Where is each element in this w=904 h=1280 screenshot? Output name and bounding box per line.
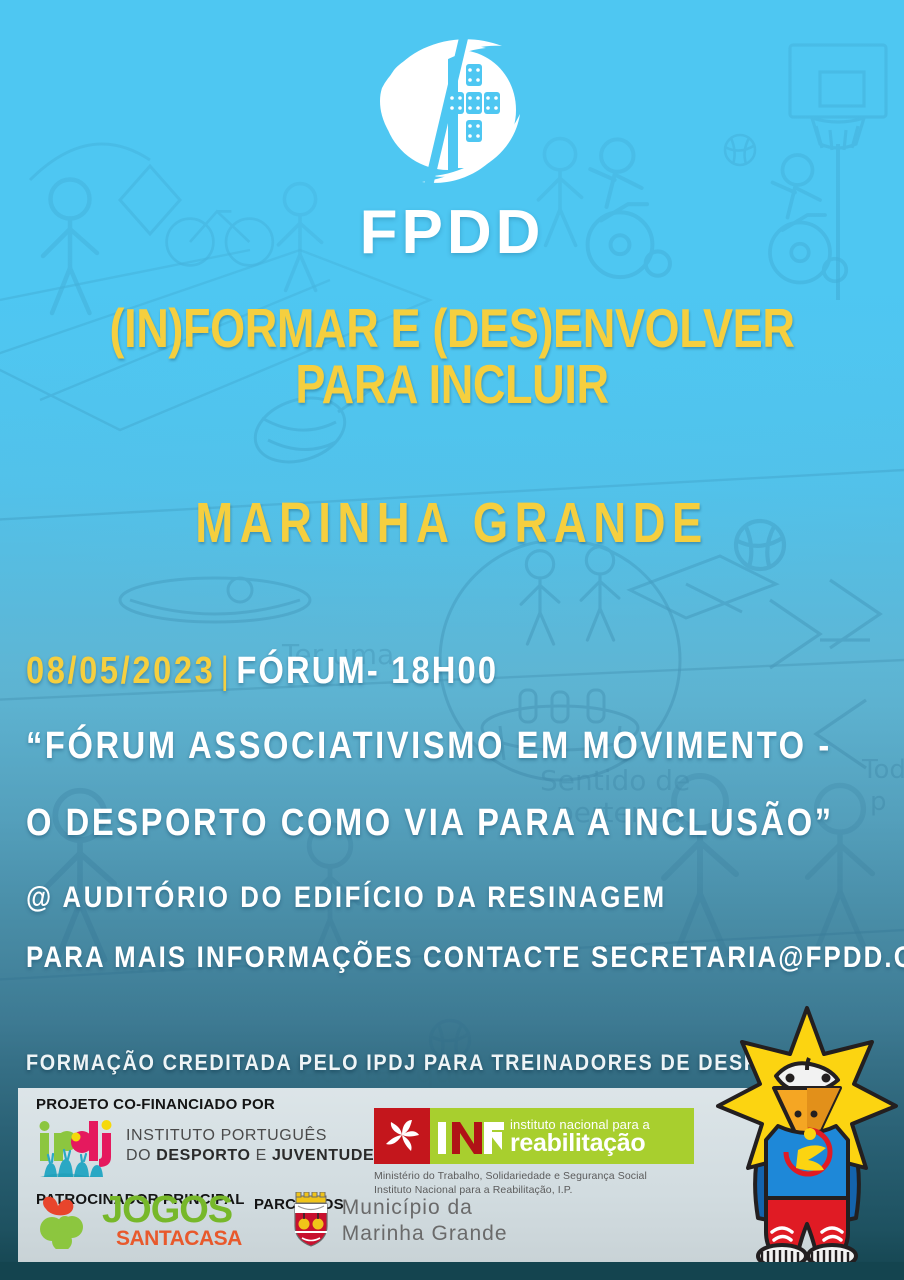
bottom-bar: [0, 1262, 904, 1280]
bottom-sponsor-logos: JOGOS SANTACASA: [36, 1192, 508, 1250]
municipality-logo: Município da Marinha Grande: [288, 1192, 508, 1250]
inr-logo-row: instituto nacional para a reabilitação: [374, 1108, 694, 1164]
event-contact: PARA MAIS INFORMAÇÕES CONTACTE SECRETARI…: [26, 941, 759, 975]
event-date: 08/05/2023: [26, 650, 215, 692]
fpdd-logo-block: FPDD: [0, 18, 904, 263]
event-dateline: 08/05/2023|FÓRUM- 18H00: [26, 650, 759, 693]
event-session: FÓRUM- 18H00: [236, 650, 498, 692]
jogos-line-1: JOGOS: [102, 1193, 242, 1227]
ipdj-text: INSTITUTO PORTUGUÊS DO DESPORTO E JUVENT…: [126, 1126, 414, 1165]
ipdj-e: E: [251, 1147, 272, 1164]
inr-logo: instituto nacional para a reabilitação M…: [374, 1108, 694, 1197]
jogos-santacasa-logo: JOGOS SANTACASA: [36, 1192, 242, 1250]
jogos-clover-icon: [36, 1193, 98, 1249]
star-mascot-icon: [714, 1002, 900, 1274]
ipdj-do: DO: [126, 1147, 156, 1164]
ipdj-juventude: JUVENTUDE: [272, 1147, 374, 1164]
pinwheel-icon: [382, 1116, 422, 1156]
event-theme-line-2: O DESPORTO COMO VIA PARA A INCLUSÃO”: [26, 802, 759, 845]
inr-pinwheel-badge: [374, 1108, 430, 1164]
page-title: (IN)FORMAR E (DES)ENVOLVER PARA INCLUIR: [81, 300, 822, 412]
coat-of-arms-icon: [288, 1192, 334, 1250]
inr-name: reabilitação: [510, 1131, 650, 1156]
location-title: MARINHA GRANDE: [90, 490, 813, 556]
ipdj-line-2: DO DESPORTO E JUVENTUDE, I. P.: [126, 1146, 414, 1166]
fpdd-emblem-icon: [352, 18, 552, 208]
ipdj-desporto: DESPORTO: [156, 1147, 250, 1164]
poster-canvas: Ter uma Sentido de pertença Tod p Aceita…: [0, 0, 904, 1280]
event-details: 08/05/2023|FÓRUM- 18H00 “FÓRUM ASSOCIATI…: [26, 650, 878, 975]
event-venue: @ AUDITÓRIO DO EDIFÍCIO DA RESINAGEM: [26, 881, 759, 915]
event-theme-line-1: “FÓRUM ASSOCIATIVISMO EM MOVIMENTO -: [26, 725, 759, 768]
municipality-line-2: Marinha Grande: [342, 1221, 508, 1247]
inr-wordmark: instituto nacional para a reabilitação: [510, 1118, 650, 1156]
fpdd-wordmark: FPDD: [360, 204, 545, 263]
inr-monogram-icon: [436, 1116, 506, 1158]
dateline-separator: |: [221, 650, 232, 692]
inr-green-bar: instituto nacional para a reabilitação: [430, 1108, 694, 1164]
municipality-wordmark: Município da Marinha Grande: [342, 1195, 508, 1248]
ipdj-mark-icon: [36, 1115, 120, 1177]
inr-ministry-line-1: Ministério do Trabalho, Solidariedade e …: [374, 1169, 694, 1183]
ipdj-line-1: INSTITUTO PORTUGUÊS: [126, 1126, 414, 1146]
jogos-wordmark: JOGOS SANTACASA: [102, 1193, 242, 1248]
accreditation-note: FORMAÇÃO CREDITADA PELO IPDJ PARA TREINA…: [26, 1050, 822, 1076]
jogos-line-2: SANTACASA: [116, 1228, 242, 1249]
municipality-line-1: Município da: [342, 1195, 508, 1221]
